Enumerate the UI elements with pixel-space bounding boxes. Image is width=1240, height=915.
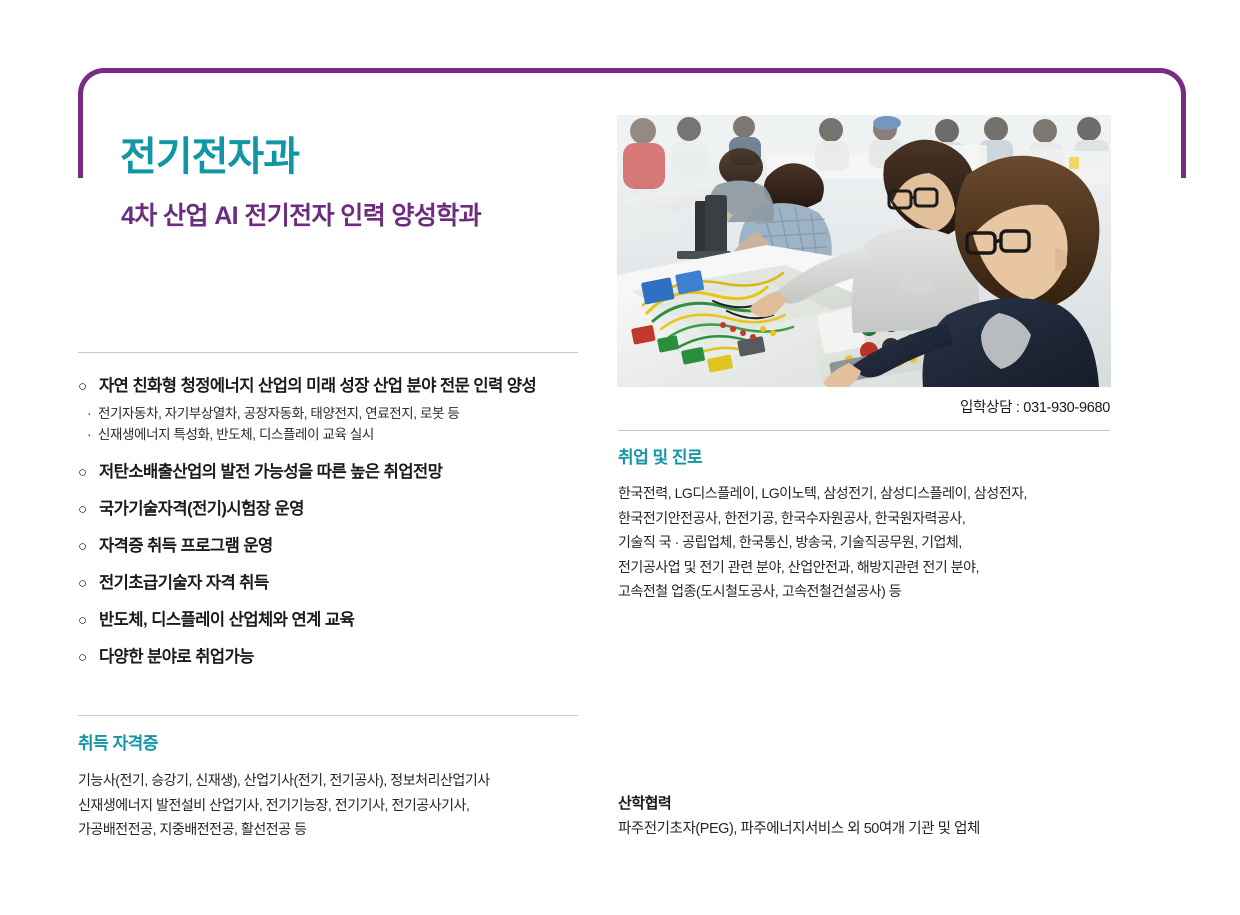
feature-label: 전기초급기술자 자격 취득 <box>99 569 598 593</box>
career-line: 한국전력, LG디스플레이, LG이노텍, 삼성전기, 삼성디스플레이, 삼성전… <box>618 481 1118 506</box>
cooperation-body: 파주전기초자(PEG), 파주에너지서비스 외 50여개 기관 및 업체 <box>618 817 1118 838</box>
career-section-heading: 취업 및 진로 <box>618 443 702 468</box>
page-title: 전기전자과 <box>120 124 299 182</box>
circle-bullet-icon: ○ <box>78 378 99 395</box>
circle-bullet-icon: ○ <box>78 612 99 629</box>
circle-bullet-icon: ○ <box>78 464 99 481</box>
certificate-line: 가공배전전공, 지중배전전공, 활선전공 등 <box>78 817 598 842</box>
divider-features <box>78 352 578 353</box>
feature-item: ○ 자연 친화형 청정에너지 산업의 미래 성장 산업 분야 전문 인력 양성 <box>78 372 598 396</box>
career-line: 기술직 국 · 공립업체, 한국통신, 방송국, 기술직공무원, 기업체, <box>618 530 1118 555</box>
feature-sub-label: 전기자동차, 자기부상열차, 공장자동화, 태양전지, 연료전지, 로봇 등 <box>98 403 459 424</box>
feature-label: 자격증 취득 프로그램 운영 <box>99 532 598 556</box>
circle-bullet-icon: ○ <box>78 575 99 592</box>
circle-bullet-icon: ○ <box>78 538 99 555</box>
dot-bullet-icon: · <box>87 424 98 445</box>
career-section-body: 한국전력, LG디스플레이, LG이노텍, 삼성전기, 삼성디스플레이, 삼성전… <box>618 481 1118 604</box>
classroom-photo <box>617 115 1111 387</box>
certificates-section-heading: 취득 자격증 <box>78 729 158 754</box>
feature-label: 저탄소배출산업의 발전 가능성을 따른 높은 취업전망 <box>99 458 598 482</box>
divider-career <box>618 430 1110 431</box>
features-list: ○ 자연 친화형 청정에너지 산업의 미래 성장 산업 분야 전문 인력 양성 … <box>78 372 598 680</box>
certificates-section-body: 기능사(전기, 승강기, 신재생), 산업기사(전기, 전기공사), 정보처리산… <box>78 768 598 842</box>
feature-label: 다양한 분야로 취업가능 <box>99 643 598 667</box>
circle-bullet-icon: ○ <box>78 501 99 518</box>
feature-item: ○ 다양한 분야로 취업가능 <box>78 643 598 667</box>
career-line: 전기공사업 및 전기 관련 분야, 산업안전과, 해방지관련 전기 분야, <box>618 555 1118 580</box>
circle-bullet-icon: ○ <box>78 649 99 666</box>
brochure-page: 전기전자과 4차 산업 AI 전기전자 인력 양성학과 <box>0 0 1240 915</box>
feature-item: ○ 전기초급기술자 자격 취득 <box>78 569 598 593</box>
feature-item: ○ 자격증 취득 프로그램 운영 <box>78 532 598 556</box>
career-line: 고속전철 업종(도시철도공사, 고속전철건설공사) 등 <box>618 579 1118 604</box>
divider-certificates <box>78 715 578 716</box>
feature-label: 국가기술자격(전기)시험장 운영 <box>99 495 598 519</box>
career-line: 한국전기안전공사, 한전기공, 한국수자원공사, 한국원자력공사, <box>618 506 1118 531</box>
certificate-line: 신재생에너지 발전설비 산업기사, 전기기능장, 전기기사, 전기공사기사, <box>78 793 598 818</box>
feature-sub-list: · 전기자동차, 자기부상열차, 공장자동화, 태양전지, 연료전지, 로봇 등… <box>78 403 598 445</box>
cooperation-section: 산학협력 파주전기초자(PEG), 파주에너지서비스 외 50여개 기관 및 업… <box>618 792 1118 838</box>
feature-sub-item: · 신재생에너지 특성화, 반도체, 디스플레이 교육 실시 <box>78 424 598 445</box>
dot-bullet-icon: · <box>87 403 98 424</box>
feature-item: ○ 반도체, 디스플레이 산업체와 연계 교육 <box>78 606 598 630</box>
feature-label: 자연 친화형 청정에너지 산업의 미래 성장 산업 분야 전문 인력 양성 <box>99 372 598 396</box>
photo-illustration <box>617 115 1111 387</box>
feature-item: ○ 저탄소배출산업의 발전 가능성을 따른 높은 취업전망 <box>78 458 598 482</box>
certificate-line: 기능사(전기, 승강기, 신재생), 산업기사(전기, 전기공사), 정보처리산… <box>78 768 598 793</box>
page-subtitle: 4차 산업 AI 전기전자 인력 양성학과 <box>121 196 481 232</box>
feature-sub-item: · 전기자동차, 자기부상열차, 공장자동화, 태양전지, 연료전지, 로봇 등 <box>78 403 598 424</box>
feature-sub-label: 신재생에너지 특성화, 반도체, 디스플레이 교육 실시 <box>98 424 374 445</box>
photo-scene <box>617 115 1111 387</box>
feature-item: ○ 국가기술자격(전기)시험장 운영 <box>78 495 598 519</box>
admission-phone: 입학상담 : 031-930-9680 <box>618 396 1110 417</box>
cooperation-heading: 산학협력 <box>618 792 1118 813</box>
feature-label: 반도체, 디스플레이 산업체와 연계 교육 <box>99 606 598 630</box>
